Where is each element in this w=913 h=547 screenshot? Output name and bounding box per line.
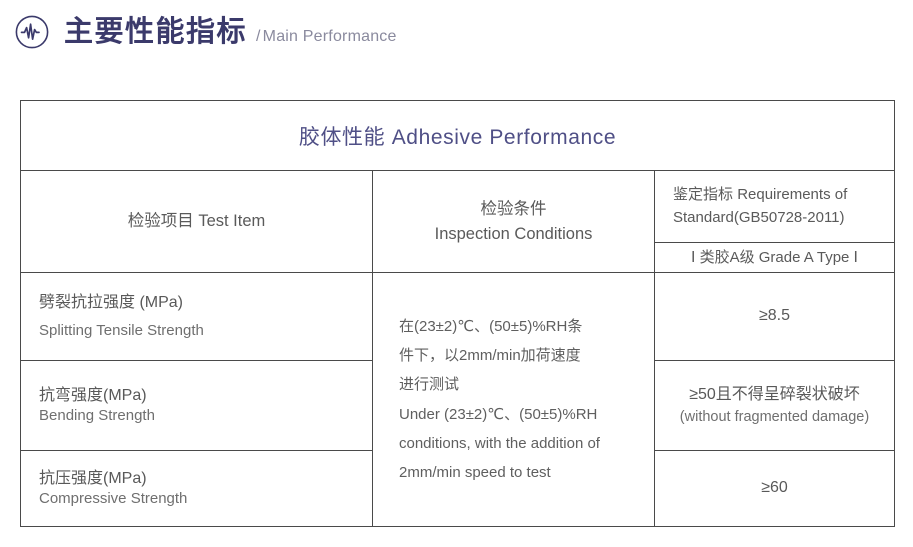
standard-value: ≥50且不得呈碎裂状破坏 [689,384,860,406]
column-header-test-item-en: Test Item [198,212,265,230]
standard-value: ≥8.5 [759,305,790,327]
column-header-inspection-conditions: 检验条件 Inspection Conditions [373,171,654,273]
page-subtitle-text: Main Performance [263,28,397,45]
column-subheader-grade-text: Ⅰ 类胶A级 Grade A Type Ⅰ [691,247,858,268]
row-item-cn: 抗弯强度(MPa) [39,385,147,407]
row-item-en: Bending Strength [39,406,155,426]
column-header-standard: 鉴定指标 Requirements of Standard(GB50728-20… [655,171,894,243]
inspection-conditions-cell: 在(23±2)℃、(50±5)%RH条 件下，以2mm/min加荷速度 进行测试… [373,273,654,526]
column-inspection-conditions: 检验条件 Inspection Conditions 在(23±2)℃、(50±… [373,171,655,526]
table-body: 检验项目 Test Item 劈裂抗拉强度 (MPa) Splitting Te… [21,171,894,526]
row-item-cn: 抗压强度(MPa) [39,468,147,490]
column-header-conditions-cn: 检验条件 [481,197,547,222]
table-caption-row: 胶体性能 Adhesive Performance [21,101,894,171]
page-title: 主要性能指标 [64,18,247,47]
standard-value: ≥60 [761,477,788,499]
table-row: 劈裂抗拉强度 (MPa) Splitting Tensile Strength [21,273,372,361]
conditions-line: 在(23±2)℃、(50±5)%RH条 [399,312,628,341]
performance-table: 胶体性能 Adhesive Performance 检验项目 Test Item… [20,100,895,527]
conditions-line: 2mm/min speed to test [399,458,628,487]
row-item-en: Compressive Strength [39,489,187,509]
row-item-en: Splitting Tensile Strength [39,321,204,341]
column-header-standard-text: 鉴定指标 Requirements of Standard(GB50728-20… [673,184,876,229]
page-title-group: 主要性能指标 /Main Performance [64,18,397,47]
standard-value-cell: ≥8.5 [655,273,894,361]
pulse-circle-icon [14,14,50,50]
table-row: 抗压强度(MPa) Compressive Strength [21,451,372,526]
standard-value-note: (without fragmented damage) [680,407,869,427]
page-header: 主要性能指标 /Main Performance [14,14,397,50]
column-subheader-grade: Ⅰ 类胶A级 Grade A Type Ⅰ [655,243,894,273]
column-header-test-item: 检验项目 Test Item [21,171,372,273]
column-header-test-item-cn: 检验项目 [128,212,194,230]
conditions-line: conditions, with the addition of [399,429,628,458]
column-standard: 鉴定指标 Requirements of Standard(GB50728-20… [655,171,894,526]
conditions-line: Under (23±2)℃、(50±5)%RH [399,400,628,429]
column-header-standard-cn: 鉴定指标 [673,186,733,203]
column-header-conditions-en: Inspection Conditions [435,222,593,247]
row-item-cn: 劈裂抗拉强度 (MPa) [39,292,183,314]
title-separator: / [256,28,263,45]
column-header-test-item-text: 检验项目 Test Item [128,209,266,234]
standard-value-cell: ≥60 [655,451,894,526]
page-subtitle: /Main Performance [256,28,397,46]
table-row: 抗弯强度(MPa) Bending Strength [21,361,372,451]
standard-value-cell: ≥50且不得呈碎裂状破坏 (without fragmented damage) [655,361,894,451]
column-test-item: 检验项目 Test Item 劈裂抗拉强度 (MPa) Splitting Te… [21,171,373,526]
table-caption: 胶体性能 Adhesive Performance [299,121,616,151]
conditions-line: 进行测试 [399,370,628,399]
conditions-line: 件下，以2mm/min加荷速度 [399,341,628,370]
